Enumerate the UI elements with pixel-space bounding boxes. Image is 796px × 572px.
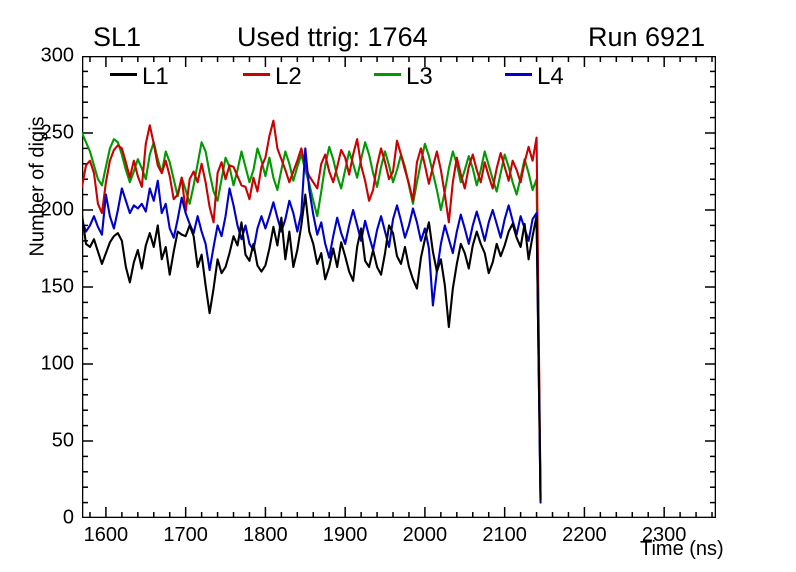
y-tick-label: 150 (41, 276, 74, 299)
y-axis-title: Number of digis (27, 87, 50, 287)
chart-header: SL1 Used ttrig: 1764 Run 6921 (0, 0, 796, 56)
x-tick-label: 2200 (562, 524, 607, 547)
x-tick-label: 1900 (323, 524, 368, 547)
x-tick-label: 1700 (163, 524, 208, 547)
chart-canvas (82, 56, 716, 518)
x-tick-label: 2000 (403, 524, 448, 547)
plot-area (82, 56, 716, 518)
y-tick-label: 300 (41, 45, 74, 68)
x-tick-label: 1600 (84, 524, 129, 547)
x-tick-label: 2100 (482, 524, 527, 547)
y-tick-label: 100 (41, 353, 74, 376)
run-label: Run 6921 (588, 24, 705, 51)
ttrig-label: Used ttrig: 1764 (237, 24, 428, 51)
x-tick-label: 2300 (642, 524, 687, 547)
y-tick-label: 0 (63, 507, 74, 530)
y-tick-label: 200 (41, 199, 74, 222)
superlayer-label: SL1 (93, 24, 141, 51)
y-tick-label: 50 (52, 430, 74, 453)
x-tick-label: 1800 (243, 524, 288, 547)
y-tick-label: 250 (41, 122, 74, 145)
